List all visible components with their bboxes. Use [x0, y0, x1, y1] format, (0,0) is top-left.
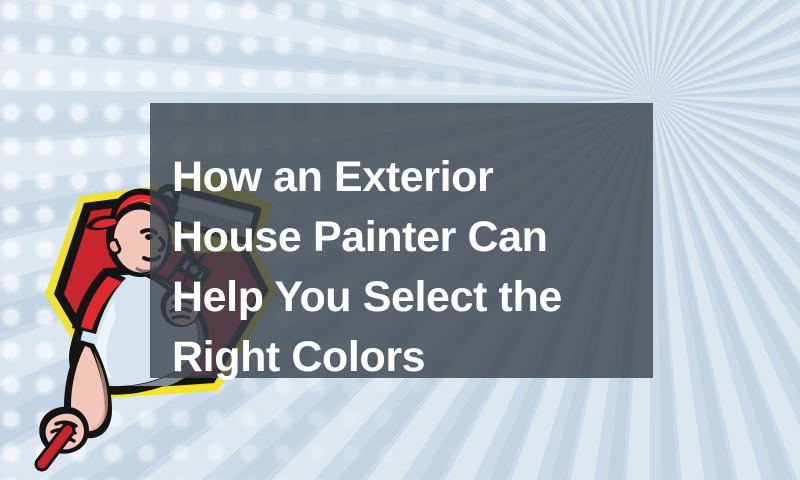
hero-banner: How an Exterior House Painter Can Help Y…: [0, 0, 800, 480]
page-title: How an Exterior House Painter Can Help Y…: [172, 147, 642, 387]
